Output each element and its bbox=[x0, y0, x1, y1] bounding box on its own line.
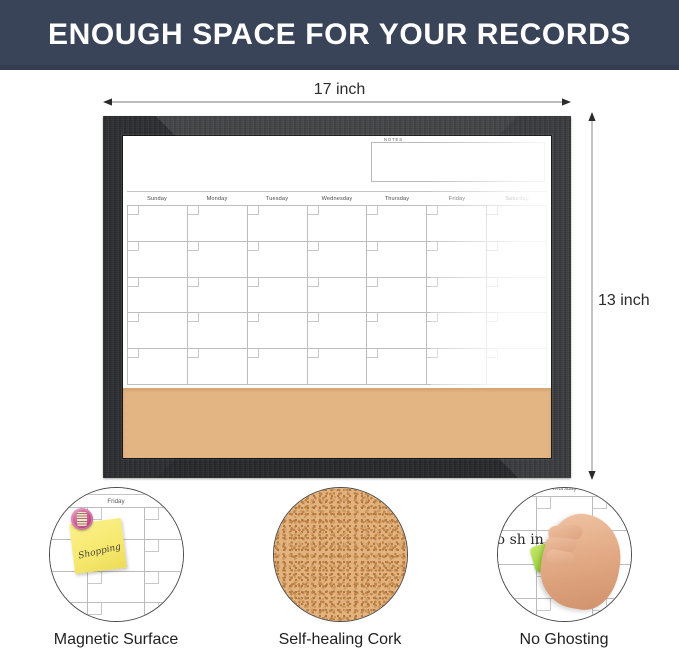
day-header-row: Sunday Monday Tuesday Wednesday Thursday… bbox=[127, 193, 547, 205]
calendar-cell-datebox bbox=[188, 313, 199, 322]
calendar-cell bbox=[497, 565, 537, 599]
feature-circle-ghosting: Thursday Go sh in bbox=[497, 487, 632, 622]
calendar-cell bbox=[308, 278, 368, 314]
calendar-cell bbox=[427, 349, 487, 385]
ghost-day-thursday: Thursday bbox=[551, 487, 576, 492]
calendar-cell bbox=[308, 242, 368, 278]
calendar-cell bbox=[367, 242, 427, 278]
calendar-cell bbox=[188, 242, 248, 278]
calendar-cell-datebox bbox=[188, 206, 199, 215]
calendar-cell-datebox bbox=[188, 242, 199, 251]
day-header-rule bbox=[127, 191, 547, 192]
cork-strip bbox=[123, 388, 551, 458]
calendar-cell bbox=[427, 206, 487, 242]
sticky-note-text: Shopping bbox=[76, 542, 123, 562]
calendar-cell-datebox bbox=[128, 313, 139, 322]
day-header-sunday: Sunday bbox=[127, 193, 187, 205]
calendar-cell bbox=[427, 278, 487, 314]
calendar-cell bbox=[367, 206, 427, 242]
calendar-cell bbox=[49, 603, 88, 622]
feature-label-cork: Self-healing Cork bbox=[240, 631, 440, 649]
calendar-cell-datebox bbox=[308, 206, 319, 215]
feature-row: Thursday Friday Sat Shopping Magnetic Su… bbox=[0, 487, 679, 660]
calendar-cell bbox=[248, 313, 308, 349]
calendar-cell bbox=[367, 278, 427, 314]
calendar-cell-datebox bbox=[487, 242, 498, 251]
calendar-cell-datebox bbox=[367, 242, 378, 251]
calendar-cell-datebox bbox=[128, 349, 139, 358]
calendar-cell bbox=[497, 497, 537, 531]
calendar-cell-datebox bbox=[248, 313, 259, 322]
calendar-cell bbox=[308, 313, 368, 349]
calendar-cell bbox=[487, 313, 547, 349]
feature-circle-cork bbox=[273, 487, 408, 622]
calendar-cell bbox=[487, 242, 547, 278]
calendar-cell-datebox bbox=[128, 206, 139, 215]
calendar-cell-datebox bbox=[487, 206, 498, 215]
calendar-cell-datebox bbox=[128, 278, 139, 287]
mini-calendar-rule bbox=[49, 494, 184, 495]
calendar-cell-datebox bbox=[308, 313, 319, 322]
calendar-cell bbox=[308, 349, 368, 385]
ghost-calendar: Thursday Go sh in bbox=[497, 487, 632, 622]
calendar-cell bbox=[145, 508, 183, 540]
mini-day-header-row: Thursday Friday Sat bbox=[49, 496, 184, 507]
calendar-cell-datebox bbox=[487, 278, 498, 287]
calendar-cell bbox=[248, 278, 308, 314]
calendar-cell-datebox bbox=[188, 278, 199, 287]
calendar-cell-datebox bbox=[427, 313, 438, 322]
calendar-cell bbox=[145, 540, 183, 572]
mini-calendar: Thursday Friday Sat Shopping bbox=[49, 487, 184, 622]
feature-self-healing-cork: Self-healing Cork bbox=[240, 487, 440, 660]
calendar-cell-datebox bbox=[308, 242, 319, 251]
calendar-cell-datebox bbox=[248, 206, 259, 215]
day-header-tuesday: Tuesday bbox=[247, 193, 307, 205]
page-title: ENOUGH SPACE FOR YOUR RECORDS bbox=[48, 20, 631, 50]
calendar-cell bbox=[188, 313, 248, 349]
calendar-cell-datebox bbox=[367, 349, 378, 358]
calendar-cell bbox=[188, 206, 248, 242]
feature-label-magnetic: Magnetic Surface bbox=[16, 631, 216, 649]
calendar-cell-datebox bbox=[248, 242, 259, 251]
mini-day-friday: Friday bbox=[87, 496, 145, 507]
header-banner: ENOUGH SPACE FOR YOUR RECORDS bbox=[0, 0, 679, 70]
feature-magnetic-surface: Thursday Friday Sat Shopping Magnetic Su… bbox=[16, 487, 216, 660]
calendar-cell bbox=[188, 278, 248, 314]
calendar-cell bbox=[145, 603, 183, 622]
feature-label-ghosting: No Ghosting bbox=[464, 631, 664, 649]
calendar-cell bbox=[128, 313, 188, 349]
calendar-cell bbox=[497, 599, 537, 622]
calendar-cell-datebox bbox=[248, 349, 259, 358]
width-dimension-arrow bbox=[103, 96, 571, 108]
calendar-cell-datebox bbox=[308, 349, 319, 358]
calendar-cell bbox=[128, 349, 188, 385]
calendar-cell bbox=[248, 349, 308, 385]
day-header-monday: Monday bbox=[187, 193, 247, 205]
board-face: NOTES Sunday Monday Tuesday Wednesday Th… bbox=[123, 136, 551, 458]
magnet-icon bbox=[71, 508, 93, 530]
calendar-cell-datebox bbox=[487, 349, 498, 358]
calendar-cell bbox=[128, 278, 188, 314]
notes-box: NOTES bbox=[371, 142, 545, 182]
day-header-saturday: Saturday bbox=[487, 193, 547, 205]
feature-no-ghosting: Thursday Go sh in No Ghosting bbox=[464, 487, 664, 660]
calendar-cell bbox=[145, 572, 183, 604]
calendar-cell-datebox bbox=[487, 313, 498, 322]
calendar-cell bbox=[128, 242, 188, 278]
product-board: NOTES Sunday Monday Tuesday Wednesday Th… bbox=[103, 116, 571, 478]
calendar-cell bbox=[427, 313, 487, 349]
calendar-cell bbox=[367, 349, 427, 385]
calendar-cell bbox=[487, 349, 547, 385]
calendar-cell-datebox bbox=[427, 242, 438, 251]
feature-circle-magnetic: Thursday Friday Sat Shopping bbox=[49, 487, 184, 622]
notes-label: NOTES bbox=[380, 137, 407, 142]
day-header-friday: Friday bbox=[427, 193, 487, 205]
mini-day-saturday: Sat bbox=[145, 496, 184, 507]
calendar-cell-datebox bbox=[427, 278, 438, 287]
calendar-cell bbox=[248, 206, 308, 242]
day-header-thursday: Thursday bbox=[367, 193, 427, 205]
calendar-cell bbox=[88, 572, 145, 604]
calendar-cell-datebox bbox=[367, 206, 378, 215]
calendar-grid bbox=[127, 205, 547, 385]
mini-day-thursday: Thursday bbox=[49, 496, 88, 507]
calendar-cell-datebox bbox=[308, 278, 319, 287]
calendar-cell bbox=[188, 349, 248, 385]
calendar-cell bbox=[427, 242, 487, 278]
height-dimension-arrow bbox=[586, 112, 598, 480]
cork-swatch bbox=[274, 488, 407, 621]
calendar-cell bbox=[248, 242, 308, 278]
calendar-cell bbox=[49, 572, 88, 604]
calendar-cell bbox=[128, 206, 188, 242]
calendar-cell bbox=[487, 278, 547, 314]
calendar-cell-datebox bbox=[128, 242, 139, 251]
calendar-cell bbox=[487, 206, 547, 242]
calendar-cell-datebox bbox=[248, 278, 259, 287]
calendar-cell-datebox bbox=[427, 349, 438, 358]
calendar-cell-datebox bbox=[188, 349, 199, 358]
calendar-cell-datebox bbox=[427, 206, 438, 215]
calendar-cell bbox=[367, 313, 427, 349]
calendar-cell-datebox bbox=[367, 313, 378, 322]
height-dimension-label: 13 inch bbox=[598, 292, 650, 310]
whiteboard-calendar: NOTES Sunday Monday Tuesday Wednesday Th… bbox=[123, 136, 551, 388]
calendar-cell bbox=[308, 206, 368, 242]
day-header-wednesday: Wednesday bbox=[307, 193, 367, 205]
calendar-cell-datebox bbox=[367, 278, 378, 287]
calendar-cell bbox=[88, 603, 145, 622]
